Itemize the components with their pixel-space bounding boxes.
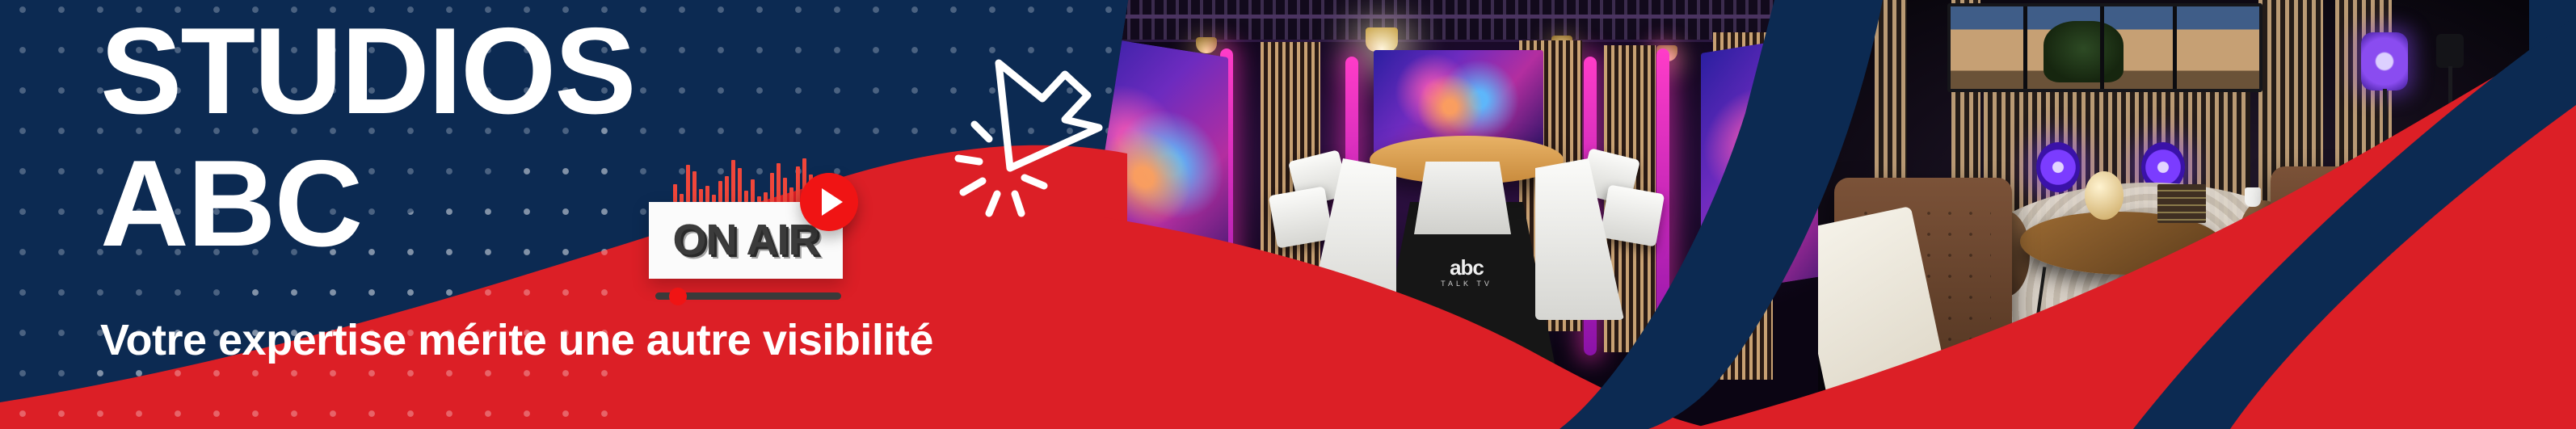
progress-knob[interactable] [669,288,687,305]
tv-studio-photo: abc TALK TV [1099,0,1850,429]
waveform-bar [764,192,768,202]
play-button-icon[interactable] [800,173,858,231]
waveform-bar [725,176,729,202]
tagline: Votre expertise mérite une autre visibil… [100,315,933,365]
waveform-bar [680,194,684,202]
waveform-bar [718,181,722,202]
studios-abc-banner: abc TALK TV [0,0,2576,429]
waveform-bar [789,187,793,202]
waveform-bar [738,168,742,202]
waveform-bar [783,178,787,202]
waveform-bar [712,195,716,202]
studio-softbox-light [2361,32,2408,90]
waveform-bar [777,163,781,202]
page-title-line2: ABC [100,145,361,263]
waveform-bar [705,186,709,202]
waveform-bar [744,191,748,202]
lounge-podcast-photo [1818,0,2529,429]
waveform-bar [673,184,677,202]
click-cursor-burst-icon [929,40,1107,226]
waveform-bar [796,166,800,202]
floor-logo-primary: abc [1386,257,1547,278]
waveform-bar [757,196,761,202]
page-title-line1: STUDIOS [100,13,635,131]
waveform-bar [692,171,697,202]
floor-logo-secondary: TALK TV [1386,280,1547,288]
waveform-bar [686,165,690,202]
waveform-bar [731,160,735,202]
waveform-bar [699,189,703,202]
studio-camera [2436,34,2464,68]
waveform-bar [770,173,774,202]
waveform-bar [751,179,755,202]
on-air-widget[interactable]: ON AIR [642,154,893,315]
